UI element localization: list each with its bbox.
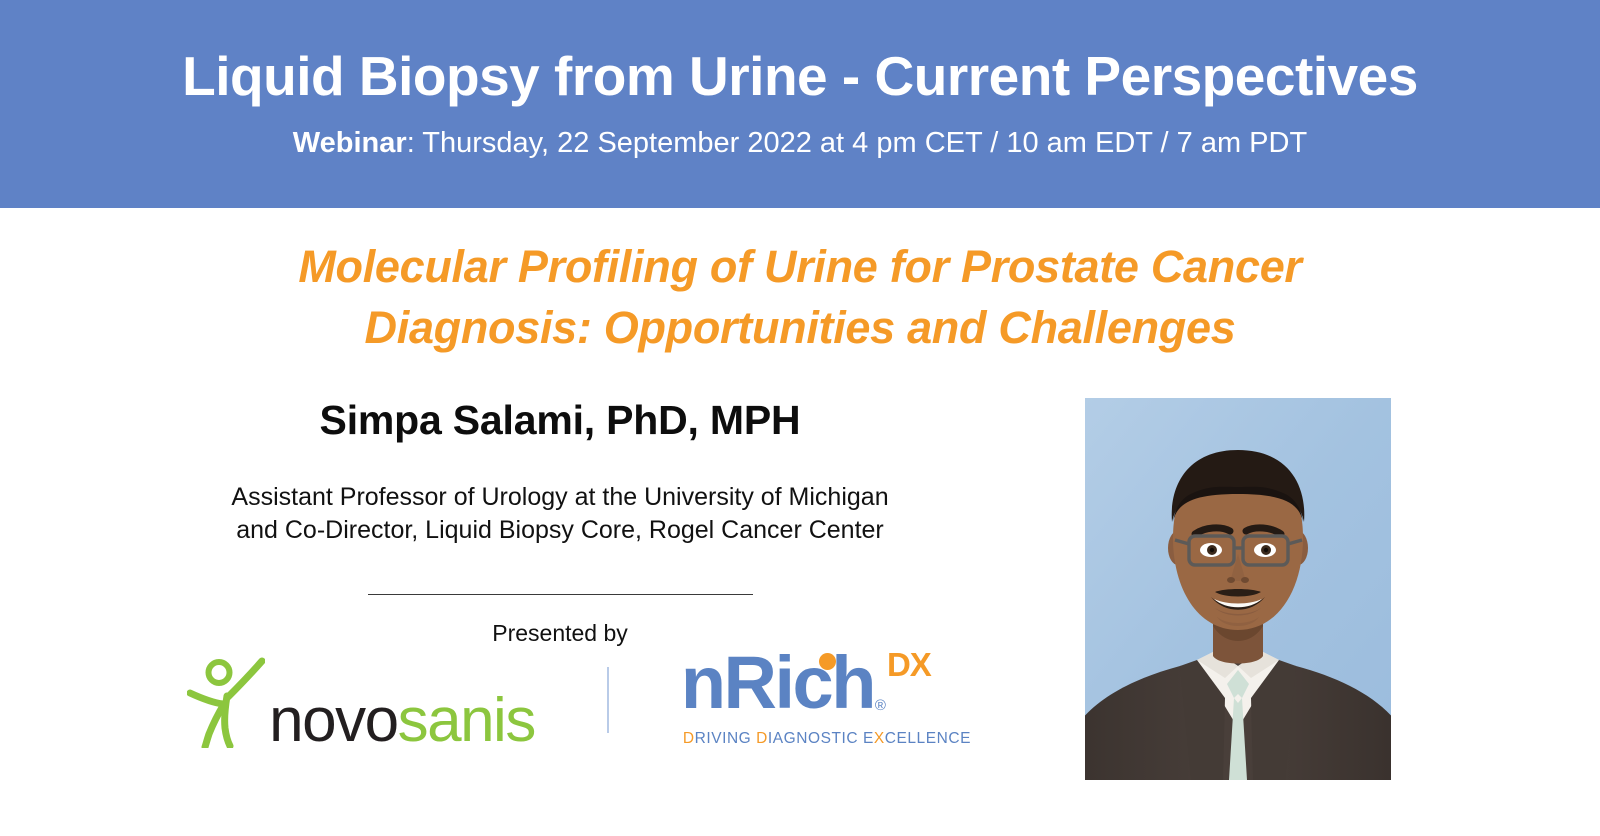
- logo-vertical-divider: [607, 667, 609, 733]
- speaker-affiliation-line-2: and Co-Director, Liquid Biopsy Core, Rog…: [100, 514, 1020, 547]
- page-title: Liquid Biopsy from Urine - Current Persp…: [182, 48, 1418, 106]
- speaker-name: Simpa Salami, PhD, MPH: [100, 398, 1020, 443]
- speaker-affiliation: Assistant Professor of Urology at the Un…: [100, 481, 1020, 547]
- novosanis-word-sanis: sanis: [398, 686, 535, 755]
- nrichdx-superscript-dx: DX: [887, 648, 931, 681]
- registered-trademark-icon: ®: [875, 697, 886, 714]
- header-band: Liquid Biopsy from Urine - Current Persp…: [0, 0, 1600, 208]
- session-title-line-1: Molecular Profiling of Urine for Prostat…: [40, 236, 1560, 297]
- speaker-portrait: [1085, 398, 1391, 780]
- nrichdx-main-row: nRich ® DX: [681, 646, 931, 720]
- nrichdx-orange-dot-icon: [819, 653, 836, 670]
- webinar-datetime: Webinar: Thursday, 22 September 2022 at …: [293, 128, 1307, 160]
- nrichdx-wordmark: nRich: [681, 646, 874, 720]
- novosanis-word-novo: novo: [269, 686, 397, 755]
- tagline-seg-1: D: [683, 730, 695, 747]
- tagline-seg-2: RIVING: [695, 730, 757, 747]
- session-title: Molecular Profiling of Urine for Prostat…: [40, 236, 1560, 358]
- webinar-details: : Thursday, 22 September 2022 at 4 pm CE…: [407, 127, 1308, 159]
- tagline-seg-4: IAGNOSTIC E: [768, 730, 874, 747]
- tagline-seg-5: X: [874, 730, 885, 747]
- tagline-seg-3: D: [756, 730, 768, 747]
- tagline-seg-6: CELLENCE: [885, 730, 971, 747]
- horizontal-divider: [368, 594, 753, 595]
- logo-row: novosanis nRich ® DX DRIVING DIAGNOSTIC …: [100, 640, 1020, 760]
- novosanis-logo: novosanis: [187, 650, 535, 750]
- speaker-affiliation-line-1: Assistant Professor of Urology at the Un…: [100, 481, 1020, 514]
- speaker-block: Simpa Salami, PhD, MPH Assistant Profess…: [100, 398, 1020, 648]
- nrichdx-logo: nRich ® DX DRIVING DIAGNOSTIC EXCELLENCE: [681, 646, 933, 754]
- novosanis-wordmark: novosanis: [269, 692, 535, 750]
- nrichdx-tagline: DRIVING DIAGNOSTIC EXCELLENCE: [683, 730, 971, 748]
- novosanis-figure-icon: [187, 656, 265, 748]
- session-title-line-2: Diagnosis: Opportunities and Challenges: [40, 297, 1560, 358]
- webinar-label: Webinar: [293, 127, 407, 159]
